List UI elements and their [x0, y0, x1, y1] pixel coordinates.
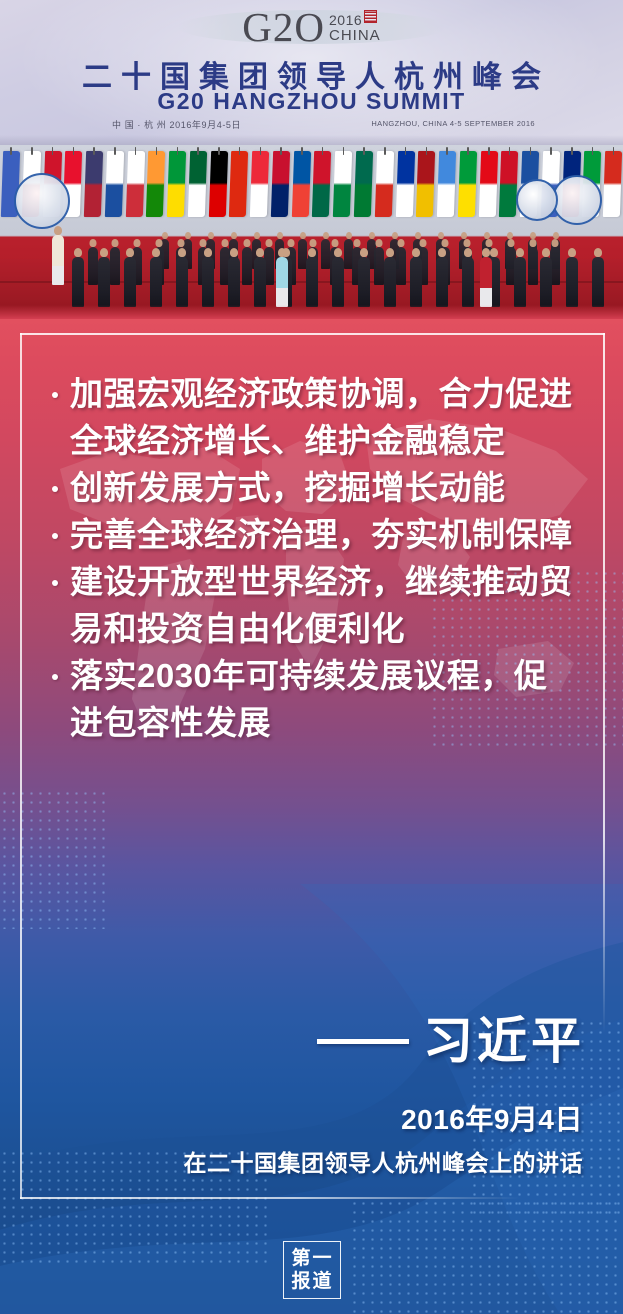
leader-figure — [592, 257, 604, 307]
poster: G2O 2016 CHINA 二十国集团领导人杭州峰会 G20 HANGZHOU… — [0, 0, 623, 1314]
g20-logo-year: 2016 — [329, 13, 362, 27]
g20-logo-year-row: 2016 — [329, 13, 377, 27]
summit-subtitle-en: HANGZHOU, CHINA 4-5 SEPTEMBER 2016 — [371, 119, 535, 128]
signature-dash — [317, 1039, 409, 1044]
org-emblem-icon — [516, 179, 558, 221]
leader-figure — [242, 247, 252, 285]
photo-bottom-fade — [0, 305, 623, 319]
leader-figure — [462, 257, 474, 307]
g20-logo-mark: G2O — [242, 7, 325, 48]
summit-title-en: G20 HANGZHOU SUMMIT — [0, 88, 623, 115]
leader-figure — [72, 257, 84, 307]
leader-figure — [176, 257, 188, 307]
leaders-row — [0, 145, 623, 319]
leader-figure — [228, 257, 240, 307]
brand-logo-line1: 第一 — [289, 1248, 333, 1270]
leader-figure — [98, 257, 110, 307]
dot-pattern — [0, 789, 110, 929]
dot-pattern — [350, 1199, 623, 1314]
leader-figure — [332, 257, 344, 307]
frame-border-bottom — [20, 1197, 520, 1199]
list-item: 加强宏观经济政策协调，合力促进全球经济增长、维护金融稳定 — [48, 370, 578, 464]
org-emblem-icon — [14, 173, 70, 229]
g20-logo-text: 2016 CHINA — [329, 13, 381, 43]
org-emblem-icon — [552, 175, 602, 225]
leader-figure — [202, 257, 214, 307]
leader-figure — [566, 257, 578, 307]
leader-figure — [358, 257, 370, 307]
g20-logo-country: CHINA — [329, 28, 381, 43]
leader-figure — [321, 239, 330, 269]
leader-figure — [384, 257, 396, 307]
leader-figure — [540, 257, 552, 307]
speech-occasion: 在二十国集团领导人杭州峰会上的讲话 — [184, 1144, 584, 1178]
list-item: 落实2030年可持续发展议程，促进包容性发展 — [48, 652, 578, 746]
g20-logo: G2O 2016 CHINA — [0, 4, 623, 50]
signature-name: 习近平 — [423, 1016, 585, 1066]
leader-figure — [276, 257, 288, 307]
list-item: 完善全球经济治理，夯实机制保障 — [48, 511, 578, 558]
leader-figure — [374, 247, 384, 285]
frame-border-left — [20, 333, 22, 1199]
leader-figure — [480, 257, 492, 307]
brand-logo-line2: 报道 — [289, 1271, 333, 1293]
signature-row: 习近平 — [317, 1016, 585, 1066]
leader-figure — [514, 257, 526, 307]
leader-figure — [150, 257, 162, 307]
list-item: 创新发展方式，挖掘增长动能 — [48, 464, 578, 511]
leader-figure — [124, 257, 136, 307]
leader-figure — [410, 257, 422, 307]
leader-figure — [254, 257, 266, 307]
summit-backdrop-header: G2O 2016 CHINA 二十国集团领导人杭州峰会 G20 HANGZHOU… — [0, 0, 623, 145]
leader-figure — [528, 247, 538, 285]
leader-figure — [396, 247, 406, 285]
frame-border-right — [603, 333, 605, 1033]
frame-border-top — [20, 333, 605, 335]
chinese-seal-icon — [364, 10, 377, 23]
list-item: 建设开放型世界经济，继续推动贸易和投资自由化便利化 — [48, 558, 578, 652]
key-points-list: 加强宏观经济政策协调，合力促进全球经济增长、维护金融稳定 创新发展方式，挖掘增长… — [48, 370, 578, 746]
leader-figure — [436, 257, 448, 307]
leaders-group-photo — [0, 145, 623, 319]
leader-figure — [306, 257, 318, 307]
summit-subtitle-cn: 中 国 · 杭 州 2016年9月4-5日 — [112, 118, 241, 131]
leader-figure — [110, 247, 120, 285]
speech-date: 2016年9月4日 — [401, 1098, 583, 1138]
leader-figure — [88, 247, 98, 285]
brand-logo[interactable]: 第一 报道 — [283, 1241, 341, 1299]
leader-figure — [52, 235, 64, 285]
